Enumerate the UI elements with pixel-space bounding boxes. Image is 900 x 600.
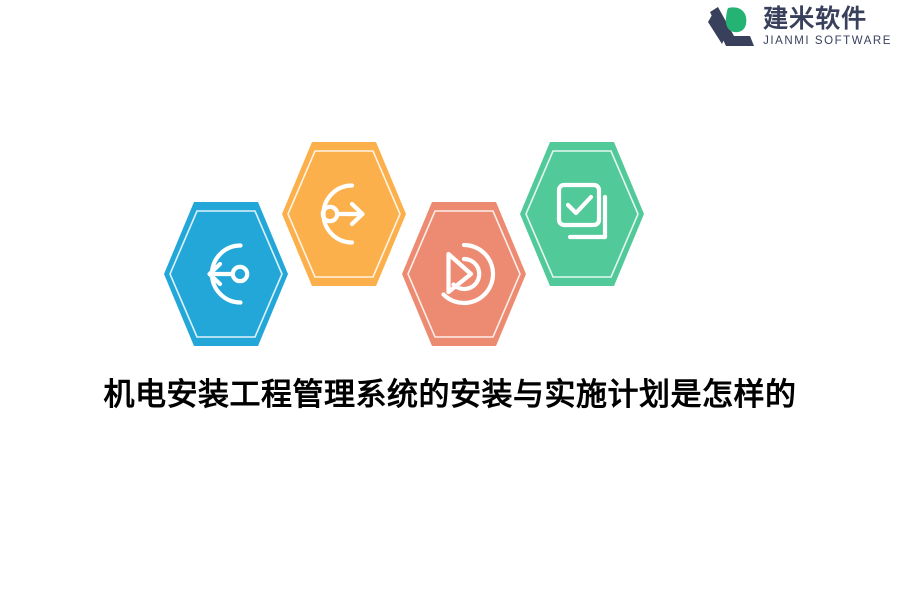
hexagon-tile-coral[interactable] bbox=[400, 200, 528, 348]
brand-name-cn: 建米软件 bbox=[763, 6, 892, 31]
hexagon-tile-orange[interactable] bbox=[280, 140, 408, 288]
page-title: 机电安装工程管理系统的安装与实施计划是怎样的 bbox=[0, 369, 900, 414]
brand-logo[interactable]: 建米软件 JIANMI SOFTWARE bbox=[708, 6, 892, 48]
brand-name-en: JIANMI SOFTWARE bbox=[763, 36, 892, 48]
hexagon-tile-blue[interactable] bbox=[162, 200, 290, 348]
hexagon-cluster bbox=[0, 120, 900, 340]
brand-text-block: 建米软件 JIANMI SOFTWARE bbox=[763, 6, 892, 48]
jianmi-leaf-logo-icon bbox=[708, 6, 756, 48]
hexagon-tile-green[interactable] bbox=[518, 140, 646, 288]
